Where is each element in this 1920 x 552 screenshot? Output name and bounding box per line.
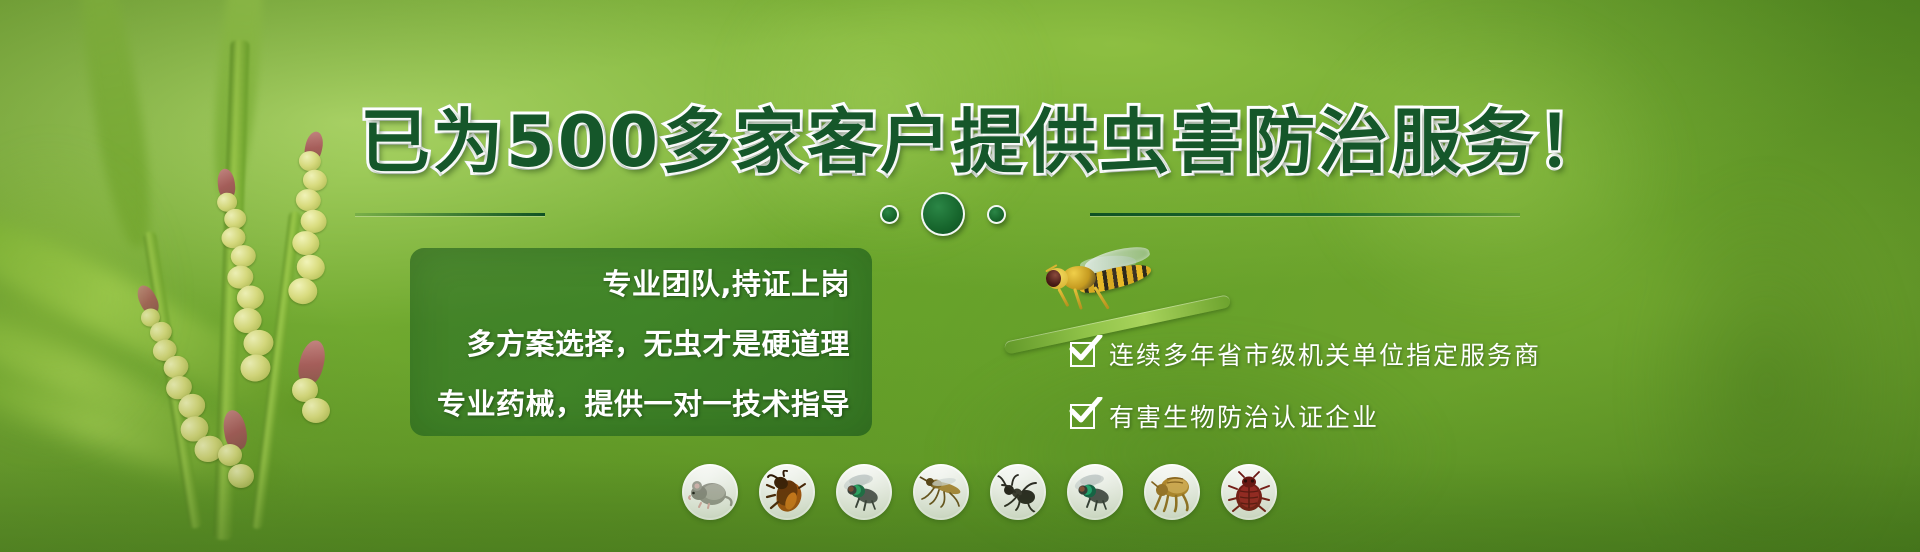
dot-small-left bbox=[880, 205, 899, 224]
hoverfly-icon bbox=[1040, 252, 1158, 308]
credential-label: 连续多年省市级机关单位指定服务商 bbox=[1109, 336, 1541, 372]
divider-left bbox=[355, 213, 545, 216]
feature-line-1: 专业团队,持证上岗 bbox=[410, 261, 850, 303]
feature-panel: 专业团队,持证上岗 多方案选择，无虫才是硬道理 专业药械，提供一对一技术指导 bbox=[410, 248, 872, 436]
decorative-dots bbox=[880, 192, 1006, 236]
dot-large bbox=[921, 192, 965, 236]
list-item: 有害生物防治认证企业 bbox=[1070, 398, 1541, 434]
credentials-list: 连续多年省市级机关单位指定服务商 有害生物防治认证企业 bbox=[1070, 336, 1541, 460]
checkbox-check-icon bbox=[1070, 404, 1095, 429]
divider-right bbox=[1090, 213, 1520, 216]
feature-line-3: 专业药械，提供一对一技术指导 bbox=[410, 381, 850, 423]
list-item: 连续多年省市级机关单位指定服务商 bbox=[1070, 336, 1541, 372]
credential-label: 有害生物防治认证企业 bbox=[1109, 398, 1379, 434]
bottom-gradient bbox=[0, 462, 1920, 552]
feature-line-2: 多方案选择，无虫才是硬道理 bbox=[410, 321, 850, 363]
page-title: 已为500多家客户提供虫害防治服务！ bbox=[360, 86, 1610, 187]
dot-small-right bbox=[987, 205, 1006, 224]
page-title-text: 已为500多家客户提供虫害防治服务！ bbox=[360, 101, 1610, 183]
pest-control-hero-banner: 已为500多家客户提供虫害防治服务！ 专业团队,持证上岗 多方案选择，无虫才是硬… bbox=[0, 0, 1920, 552]
checkbox-check-icon bbox=[1070, 342, 1095, 367]
